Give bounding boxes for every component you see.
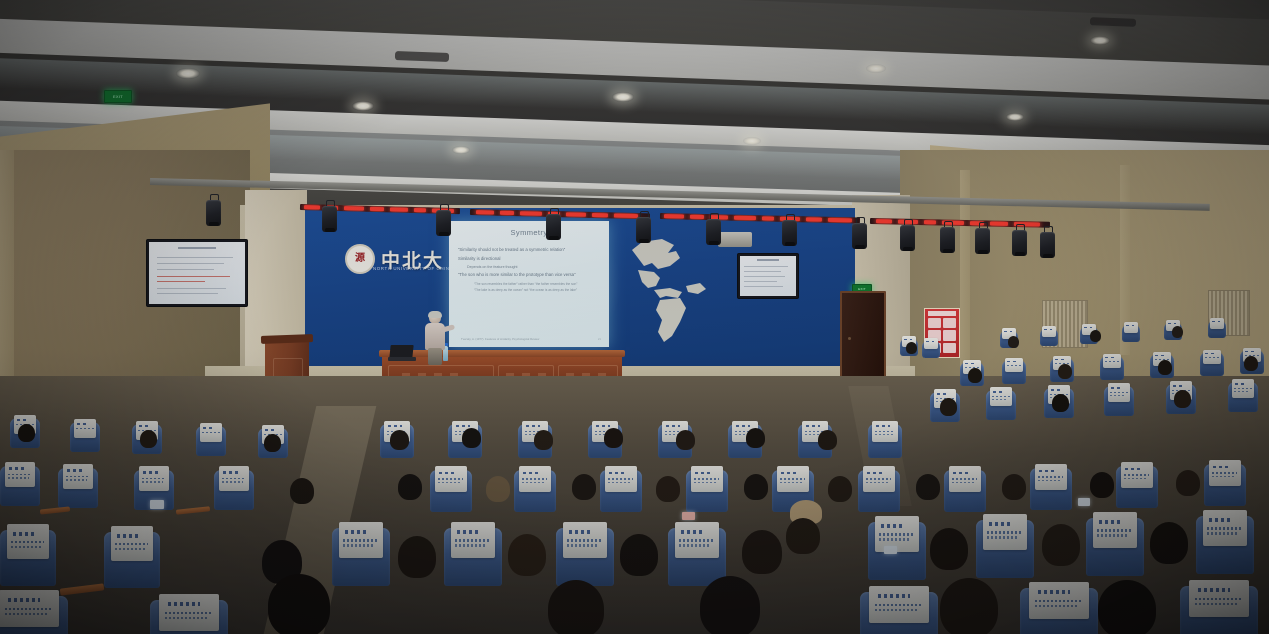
audience-head xyxy=(656,476,680,502)
audience-head xyxy=(508,534,546,576)
door-handle[interactable] xyxy=(848,337,851,340)
audience-phone-screen xyxy=(150,500,164,509)
presenter-laptop xyxy=(388,345,414,362)
audience-head xyxy=(1244,356,1258,371)
stage-spotlight xyxy=(546,208,561,242)
slide-subbullet: “The lake is as deep as the ocean” not “… xyxy=(474,288,602,293)
speaker-legs xyxy=(428,348,442,365)
ceiling-downlight xyxy=(452,146,470,154)
audience-head xyxy=(906,342,917,354)
audience-head xyxy=(916,474,940,500)
audience-head-foreground xyxy=(548,580,604,634)
confidence-monitor-right xyxy=(737,253,799,299)
audience-head xyxy=(572,474,596,500)
seat xyxy=(0,466,40,506)
stage-spotlight xyxy=(975,222,990,256)
audience-head xyxy=(930,528,968,570)
audience-head xyxy=(818,430,837,450)
audience-head xyxy=(1042,524,1080,566)
seat xyxy=(196,426,226,456)
audience-head xyxy=(1002,474,1026,500)
seat xyxy=(1204,464,1246,506)
seat xyxy=(104,532,160,588)
audience-head xyxy=(1008,336,1019,348)
slide-bullet: “Similarity should not be treated as a s… xyxy=(458,247,602,254)
slide-title: Symmetry xyxy=(449,228,609,237)
seat xyxy=(70,422,100,452)
exit-sign-label: EXIT xyxy=(113,95,123,99)
audience-head xyxy=(1174,390,1191,408)
audience-head xyxy=(398,536,436,578)
seat xyxy=(444,528,502,586)
audience-head-foreground xyxy=(700,576,760,634)
seat xyxy=(868,522,926,580)
slide-bullet: Similarity is directional xyxy=(458,256,602,263)
audience-head xyxy=(140,430,157,448)
audience-head xyxy=(264,434,281,452)
ceiling-downlight xyxy=(866,64,886,73)
laptop-base xyxy=(388,357,416,361)
audience-head xyxy=(746,428,765,448)
projection-screen: Symmetry “Similarity should not be treat… xyxy=(449,221,609,347)
audience-head-foreground xyxy=(1098,580,1156,634)
seat xyxy=(922,340,940,358)
seat xyxy=(1002,360,1026,384)
seat xyxy=(150,600,228,634)
audience-phone-screen xyxy=(884,546,897,554)
monitor-screen xyxy=(740,256,796,296)
seat xyxy=(1116,466,1158,508)
seat xyxy=(1104,386,1134,416)
audience-head-foreground xyxy=(940,578,998,634)
seat xyxy=(868,424,902,458)
seat xyxy=(0,530,56,586)
audience-head xyxy=(1090,330,1101,342)
stage-spotlight xyxy=(852,217,867,251)
stage-spotlight xyxy=(900,219,915,253)
slide-reference: Tversky, A. (1977). Features of similari… xyxy=(461,337,539,341)
seat xyxy=(1122,324,1140,342)
seat xyxy=(514,470,556,512)
audience-head xyxy=(620,534,658,576)
audience-head xyxy=(390,430,409,450)
seat xyxy=(986,390,1016,420)
seat xyxy=(944,470,986,512)
ceiling-projector xyxy=(718,232,752,247)
audience-head xyxy=(968,368,982,383)
stage-spotlight xyxy=(206,194,221,228)
seat xyxy=(0,596,68,634)
ceiling-vent xyxy=(395,51,449,62)
seat xyxy=(556,528,614,586)
seat xyxy=(1228,382,1258,412)
audience-head-foreground xyxy=(268,574,330,634)
audience-head xyxy=(1052,394,1069,412)
ceiling-downlight xyxy=(176,68,200,79)
wall-panel-seam xyxy=(0,150,14,400)
audience-head xyxy=(534,430,553,450)
audience-head xyxy=(604,428,623,448)
audience-head xyxy=(462,428,481,448)
ceiling-downlight xyxy=(743,137,761,145)
seat xyxy=(214,470,254,510)
monitor-screen xyxy=(149,242,245,304)
university-logo: 源 中北大 NORTH UNIVERSITY OF CHINA xyxy=(345,236,453,282)
audience-head xyxy=(1090,472,1114,498)
stage-spotlight xyxy=(436,204,451,238)
audience-head xyxy=(1176,470,1200,496)
university-seal-icon: 源 xyxy=(345,244,375,274)
seat xyxy=(1030,468,1072,510)
ceiling-downlight xyxy=(352,101,374,111)
seat xyxy=(668,528,726,586)
seat xyxy=(600,470,642,512)
seat xyxy=(858,470,900,512)
seat xyxy=(860,592,938,634)
audience-head xyxy=(676,430,695,450)
audience-head xyxy=(290,478,314,504)
seat xyxy=(1040,328,1058,346)
audience-head xyxy=(1058,364,1072,379)
stage-spotlight xyxy=(782,214,797,248)
seat xyxy=(1200,352,1224,376)
speaker-hair xyxy=(428,311,442,318)
audience-head xyxy=(486,476,510,502)
slide-body: “Similarity should not be treated as a s… xyxy=(458,247,602,294)
audience-head xyxy=(1172,326,1183,338)
world-map-graphic xyxy=(608,236,726,348)
seat xyxy=(976,520,1034,578)
slide-bullet: “The son who is more similar to the prot… xyxy=(458,272,602,279)
audience-phone-screen xyxy=(682,512,695,520)
seat xyxy=(430,470,472,512)
ceiling-downlight xyxy=(1006,113,1024,121)
stage-spotlight xyxy=(636,211,651,245)
audience-head xyxy=(744,474,768,500)
notice-header xyxy=(928,311,956,316)
ceiling-downlight xyxy=(1090,36,1110,45)
university-subtitle: NORTH UNIVERSITY OF CHINA xyxy=(373,266,453,271)
seat xyxy=(1100,356,1124,380)
slide-page-number: 21 xyxy=(598,337,601,341)
seat xyxy=(1196,516,1254,574)
seat xyxy=(58,468,98,508)
seat xyxy=(686,470,728,512)
table-top xyxy=(379,350,625,357)
audience-head xyxy=(786,518,820,554)
audience-head xyxy=(828,476,852,502)
auditorium-photo: EXIT 源 中北大 NORTH UNIVERSITY OF CHINA Sym… xyxy=(0,0,1269,634)
seat xyxy=(1180,586,1258,634)
stage-spotlight xyxy=(1040,226,1055,260)
seat xyxy=(1086,518,1144,576)
stage-spotlight xyxy=(940,221,955,255)
audience-head xyxy=(1150,522,1188,564)
seat xyxy=(332,528,390,586)
audience-head xyxy=(742,530,782,574)
stage-spotlight xyxy=(322,200,337,234)
lectern-top xyxy=(261,334,313,344)
lecture-speaker xyxy=(424,312,446,364)
exit-sign-upper: EXIT xyxy=(104,90,132,103)
stage-spotlight xyxy=(1012,224,1027,258)
confidence-monitor-left xyxy=(146,239,248,307)
ceiling-downlight xyxy=(612,92,634,102)
slide-subbullet: Depends on the feature thought xyxy=(467,265,602,270)
stage-spotlight xyxy=(706,213,721,247)
audience-phone-screen xyxy=(1078,498,1090,506)
audience-head xyxy=(940,398,957,416)
side-exit-door xyxy=(840,291,886,380)
seat xyxy=(1020,588,1098,634)
audience-head xyxy=(398,474,422,500)
audience-head xyxy=(1158,360,1172,375)
seat xyxy=(1208,320,1226,338)
ceiling-vent xyxy=(1090,17,1136,27)
audience-head xyxy=(18,424,35,442)
slide-subbullet: “The son resembles the father” rather th… xyxy=(474,282,602,287)
